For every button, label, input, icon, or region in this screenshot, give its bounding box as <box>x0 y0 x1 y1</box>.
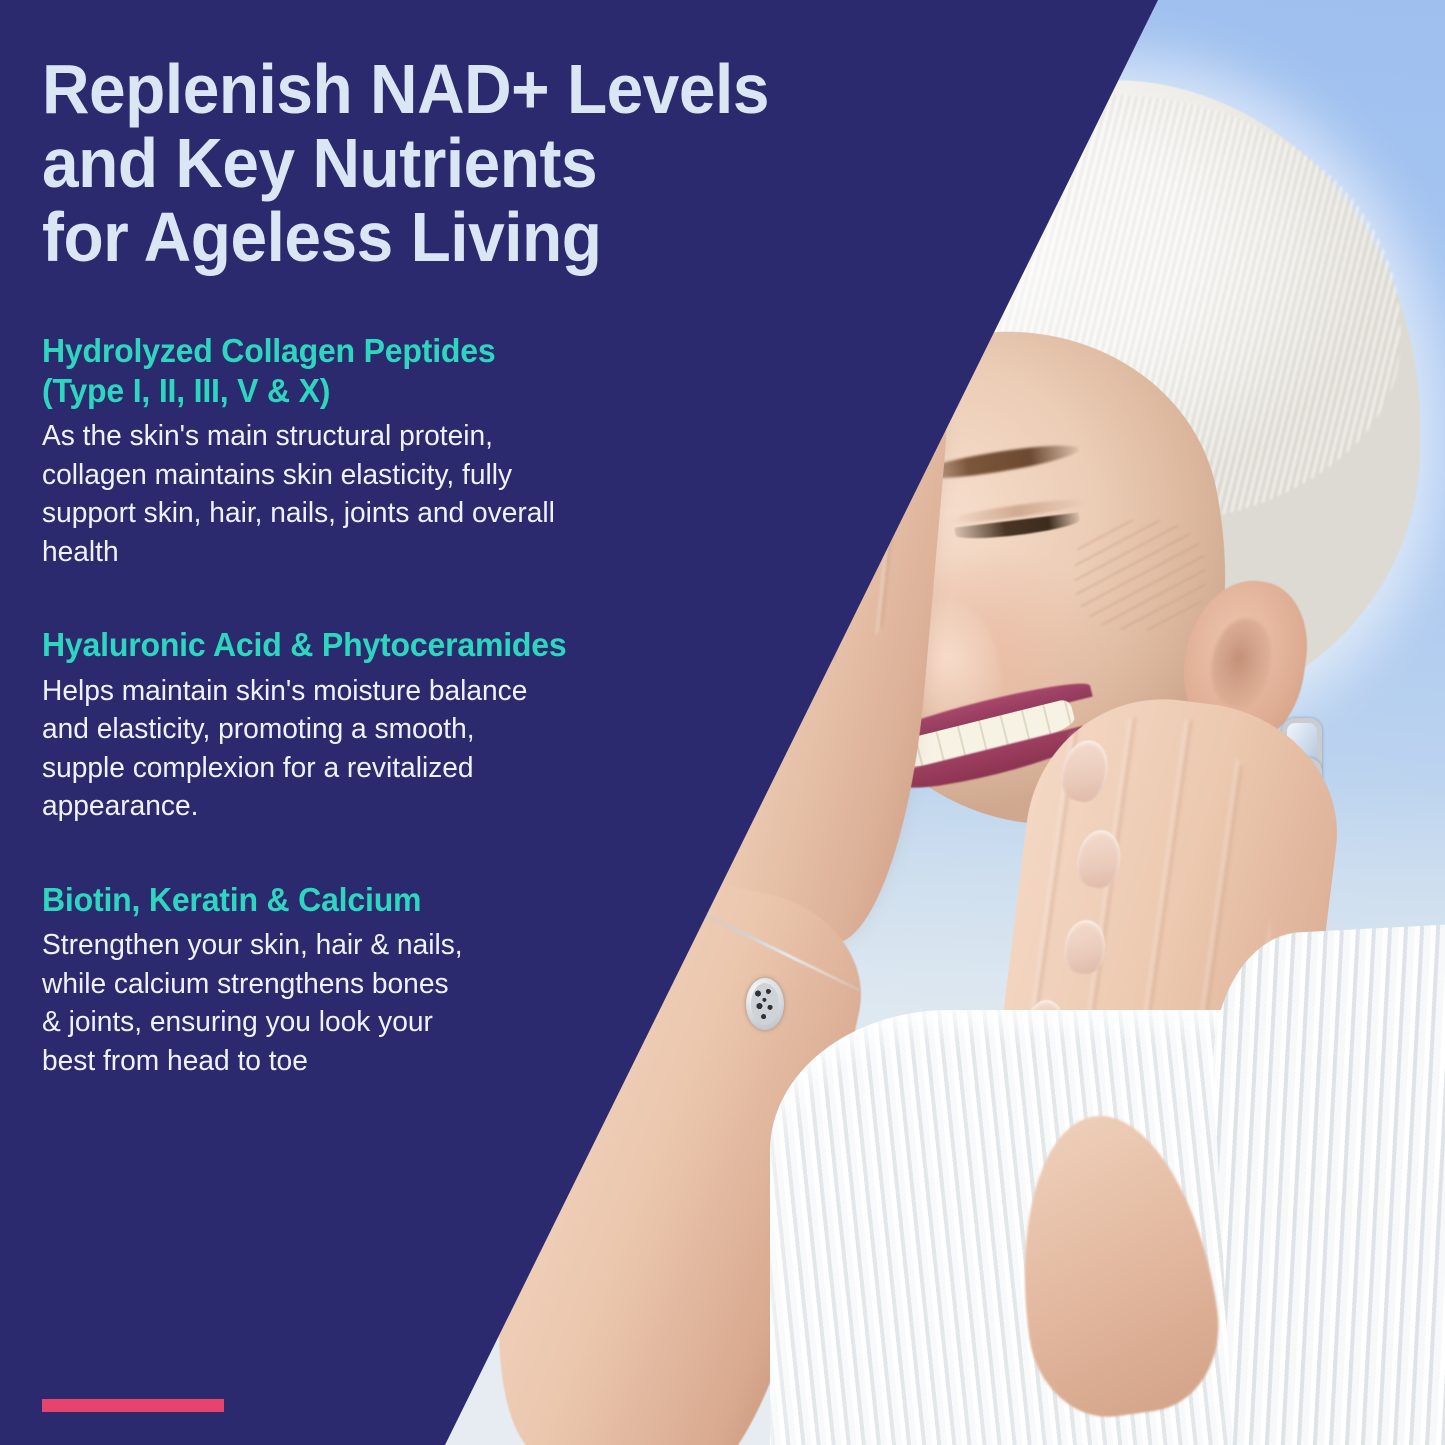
section-body: As the skin's main structural protein, c… <box>42 417 760 571</box>
benefit-section-hyaluronic: Hyaluronic Acid & Phytoceramides Helps m… <box>42 625 782 826</box>
section-body-line-3: supple complexion for a revitalized <box>42 749 760 788</box>
headline-line-3: for Ageless Living <box>42 200 738 274</box>
section-heading: Hyaluronic Acid & Phytoceramides <box>42 625 760 665</box>
section-body-line-2: while calcium strengthens bones <box>42 965 760 1004</box>
section-heading-line-1: Hyaluronic Acid & Phytoceramides <box>42 625 760 665</box>
section-heading-line-1: Hydrolyzed Collagen Peptides <box>42 331 760 371</box>
benefit-sections: Hydrolyzed Collagen Peptides (Type I, II… <box>42 331 782 1081</box>
section-body-line-1: Helps maintain skin's moisture balance <box>42 672 760 711</box>
headline-line-2: and Key Nutrients <box>42 126 738 200</box>
promotional-graphic: Replenish NAD+ Levels and Key Nutrients … <box>0 0 1445 1445</box>
text-content: Replenish NAD+ Levels and Key Nutrients … <box>42 0 782 1445</box>
section-body-line-4: appearance. <box>42 787 760 826</box>
section-body-line-3: & joints, ensuring you look your <box>42 1003 760 1042</box>
section-body-line-2: collagen maintains skin elasticity, full… <box>42 456 760 495</box>
section-body-line-4: best from head to toe <box>42 1042 760 1081</box>
white-blouse-shoulder <box>1206 924 1445 1445</box>
headline-line-1: Replenish NAD+ Levels <box>42 52 738 126</box>
section-heading-line-2: (Type I, II, III, V & X) <box>42 371 760 411</box>
section-body-line-4: health <box>42 533 760 572</box>
section-body: Strengthen your skin, hair & nails, whil… <box>42 926 760 1080</box>
accent-bar <box>42 1399 224 1412</box>
section-heading: Biotin, Keratin & Calcium <box>42 880 760 920</box>
section-body-line-1: Strengthen your skin, hair & nails, <box>42 926 760 965</box>
section-body-line-1: As the skin's main structural protein, <box>42 417 760 456</box>
benefit-section-collagen: Hydrolyzed Collagen Peptides (Type I, II… <box>42 331 782 572</box>
section-body-line-2: and elasticity, promoting a smooth, <box>42 710 760 749</box>
section-body-line-3: support skin, hair, nails, joints and ov… <box>42 494 760 533</box>
page-title: Replenish NAD+ Levels and Key Nutrients … <box>42 0 738 275</box>
benefit-section-biotin: Biotin, Keratin & Calcium Strengthen you… <box>42 880 782 1081</box>
section-heading: Hydrolyzed Collagen Peptides (Type I, II… <box>42 331 760 412</box>
smile-lines <box>1075 520 1205 630</box>
section-heading-line-1: Biotin, Keratin & Calcium <box>42 880 760 920</box>
section-body: Helps maintain skin's moisture balance a… <box>42 672 760 826</box>
